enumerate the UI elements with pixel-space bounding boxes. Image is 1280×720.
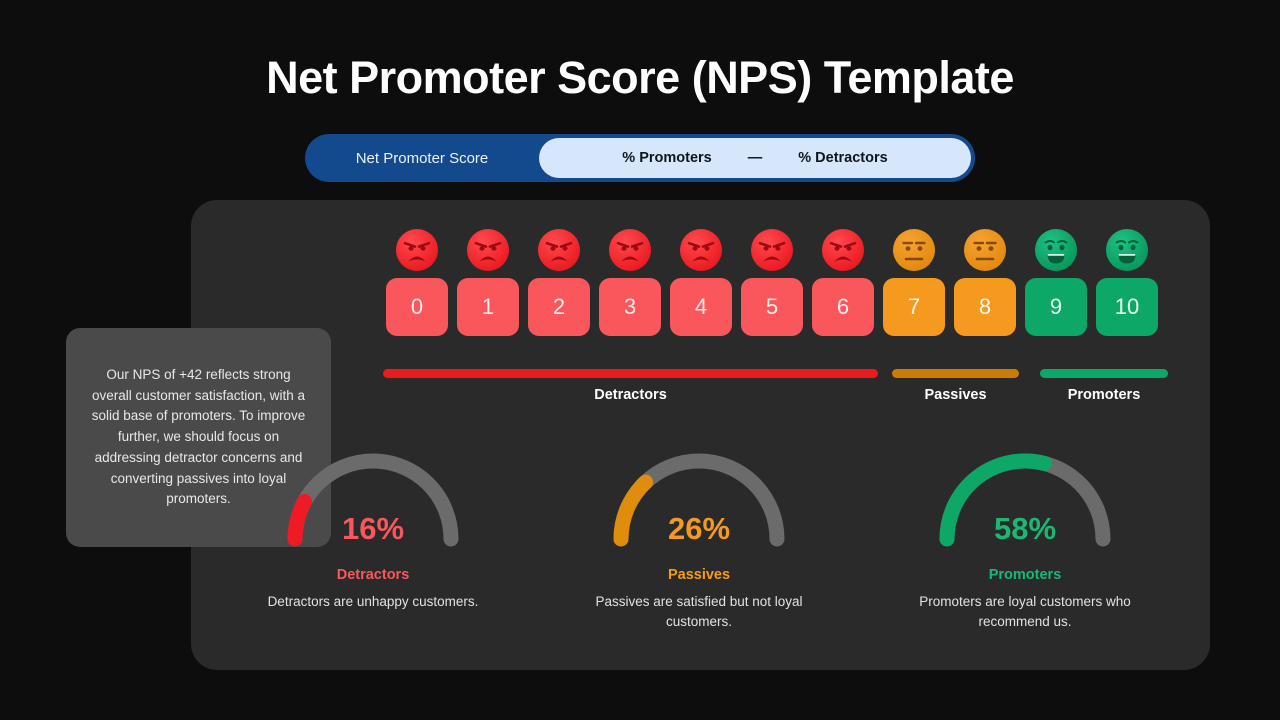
angry-face-icon	[386, 228, 448, 272]
category-label-promoters: Promoters	[1040, 387, 1168, 403]
score-box-label: 1	[482, 294, 494, 320]
score-box-label: 2	[553, 294, 565, 320]
nps-scale: 012345678910	[386, 228, 1176, 336]
category-label-passives: Passives	[892, 387, 1019, 403]
score-box-10[interactable]: 10	[1096, 278, 1158, 336]
formula-term-promoters: % Promoters	[622, 150, 711, 166]
gauge-passives: 26%PassivesPassives are satisfied but no…	[536, 445, 862, 632]
angry-face-icon	[599, 228, 661, 272]
gauge-description-promoters: Promoters are loyal customers who recomm…	[918, 592, 1133, 632]
formula-label: Net Promoter Score	[305, 150, 539, 167]
score-box-8[interactable]: 8	[954, 278, 1016, 336]
neutral-face-icon	[883, 228, 945, 272]
gauge-row: 16%DetractorsDetractors are unhappy cust…	[210, 445, 1190, 632]
score-box-7[interactable]: 7	[883, 278, 945, 336]
category-bar-detractors	[383, 369, 878, 378]
gauge-promoters: 58%PromotersPromoters are loyal customer…	[862, 445, 1188, 632]
gauge-name-passives: Passives	[668, 567, 730, 583]
slide: Net Promoter Score (NPS) Template Net Pr…	[0, 0, 1280, 720]
face-row	[386, 228, 1176, 272]
formula-pill: % Promoters — % Detractors	[539, 138, 971, 178]
category-bar-passives	[892, 369, 1019, 378]
happy-face-icon	[1096, 228, 1158, 272]
gauge-name-detractors: Detractors	[337, 567, 410, 583]
angry-face-icon	[528, 228, 590, 272]
score-box-label: 8	[979, 294, 991, 320]
score-box-label: 3	[624, 294, 636, 320]
score-box-label: 5	[766, 294, 778, 320]
score-box-5[interactable]: 5	[741, 278, 803, 336]
angry-face-icon	[670, 228, 732, 272]
score-box-1[interactable]: 1	[457, 278, 519, 336]
gauge-value-promoters: 58%	[994, 511, 1056, 547]
gauge-name-promoters: Promoters	[989, 567, 1062, 583]
score-box-label: 7	[908, 294, 920, 320]
score-box-0[interactable]: 0	[386, 278, 448, 336]
category-bar-promoters	[1040, 369, 1168, 378]
neutral-face-icon	[954, 228, 1016, 272]
gauge-description-passives: Passives are satisfied but not loyal cus…	[592, 592, 807, 632]
gauge-detractors: 16%DetractorsDetractors are unhappy cust…	[210, 445, 536, 632]
nps-formula-bar: Net Promoter Score % Promoters — % Detra…	[305, 134, 975, 182]
score-box-9[interactable]: 9	[1025, 278, 1087, 336]
angry-face-icon	[457, 228, 519, 272]
number-row: 012345678910	[386, 278, 1176, 336]
page-title: Net Promoter Score (NPS) Template	[0, 52, 1280, 104]
score-box-6[interactable]: 6	[812, 278, 874, 336]
score-box-label: 6	[837, 294, 849, 320]
score-box-label: 4	[695, 294, 707, 320]
formula-operator: —	[712, 150, 799, 166]
gauge-value-passives: 26%	[668, 511, 730, 547]
score-box-3[interactable]: 3	[599, 278, 661, 336]
category-bars: DetractorsPassivesPromoters	[383, 369, 1183, 407]
angry-face-icon	[812, 228, 874, 272]
score-box-2[interactable]: 2	[528, 278, 590, 336]
category-label-detractors: Detractors	[383, 387, 878, 403]
score-box-label: 10	[1115, 294, 1139, 320]
gauge-value-detractors: 16%	[342, 511, 404, 547]
score-box-label: 9	[1050, 294, 1062, 320]
score-box-label: 0	[411, 294, 423, 320]
happy-face-icon	[1025, 228, 1087, 272]
formula-term-detractors: % Detractors	[798, 150, 887, 166]
gauge-description-detractors: Detractors are unhappy customers.	[266, 592, 481, 612]
angry-face-icon	[741, 228, 803, 272]
score-box-4[interactable]: 4	[670, 278, 732, 336]
